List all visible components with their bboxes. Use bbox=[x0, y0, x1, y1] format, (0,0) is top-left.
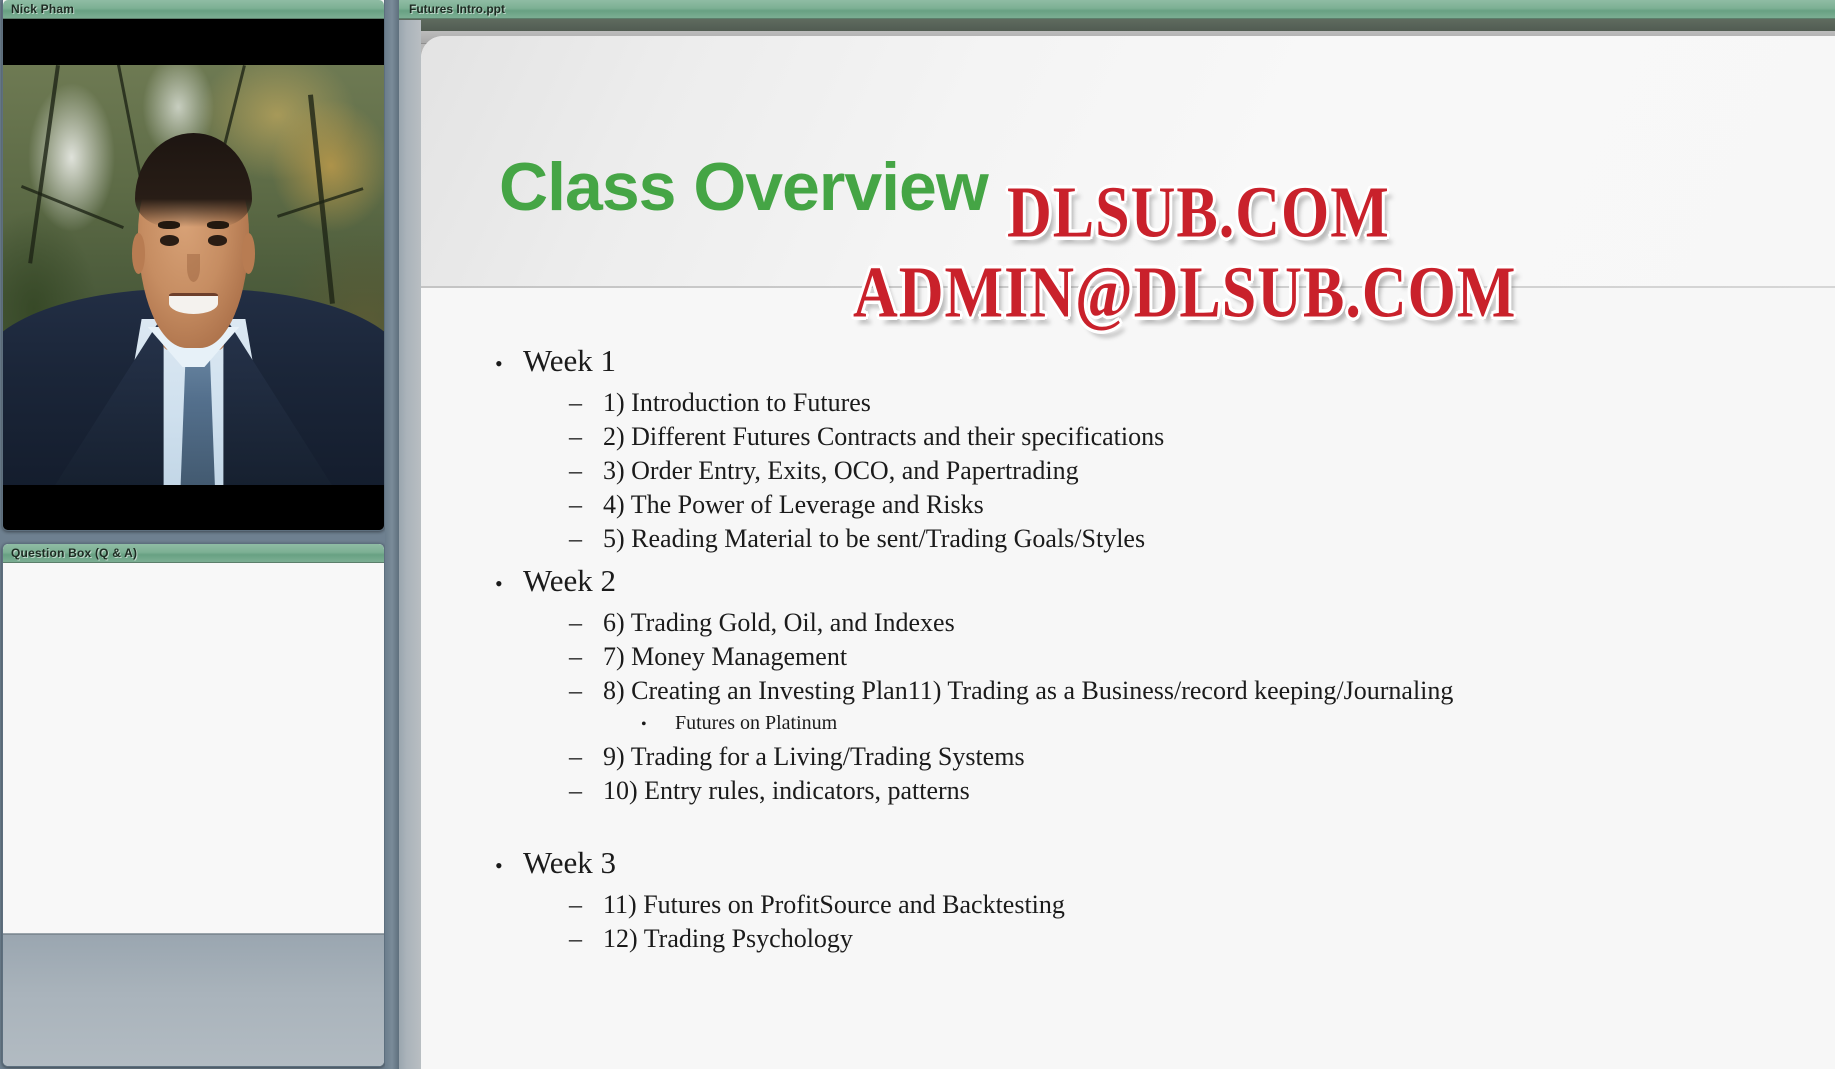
outline-bullet-marker: – bbox=[461, 420, 603, 454]
outline-item-level-2: –2) Different Futures Contracts and thei… bbox=[461, 420, 1795, 454]
presentation-subbar bbox=[399, 19, 1835, 31]
outline-bullet-marker: • bbox=[461, 343, 523, 384]
webcam-video-frame bbox=[3, 65, 384, 485]
outline-item-level-2: –7) Money Management bbox=[461, 640, 1795, 674]
outline-item-text: 6) Trading Gold, Oil, and Indexes bbox=[603, 606, 955, 640]
presenter-ear-right bbox=[242, 233, 255, 274]
slide-title-banner: Class Overview bbox=[421, 36, 1835, 288]
outline-bullet-marker: • bbox=[461, 710, 675, 740]
outline-bullet-marker: • bbox=[461, 845, 523, 886]
outline-item-level-2: –8) Creating an Investing Plan11) Tradin… bbox=[461, 674, 1795, 708]
left-column: Nick Pham bbox=[0, 0, 385, 1069]
outline-item-text: 7) Money Management bbox=[603, 640, 847, 674]
outline-item-level-2: –6) Trading Gold, Oil, and Indexes bbox=[461, 606, 1795, 640]
slide-title: Class Overview bbox=[499, 148, 988, 226]
outline-bullet-marker: – bbox=[461, 488, 603, 522]
outline-item-text: Week 2 bbox=[523, 560, 616, 601]
presentation-title: Futures Intro.ppt bbox=[409, 2, 505, 16]
outline-item-text: 3) Order Entry, Exits, OCO, and Papertra… bbox=[603, 454, 1079, 488]
outline-item-text: 9) Trading for a Living/Trading Systems bbox=[603, 740, 1025, 774]
question-box-input[interactable] bbox=[3, 934, 384, 1066]
outline-item-level-2: –5) Reading Material to be sent/Trading … bbox=[461, 522, 1795, 556]
presenter-eye-right bbox=[208, 235, 227, 245]
webcam-panel-title: Nick Pham bbox=[11, 2, 74, 16]
presentation-pane: Futures Intro.ppt Class Overview DLSUB.C… bbox=[399, 0, 1835, 1069]
presenter-webcam-panel: Nick Pham bbox=[2, 0, 385, 531]
question-box-message-list[interactable] bbox=[3, 563, 384, 934]
tree-branch bbox=[28, 65, 60, 264]
slide-outline-body: •Week 1–1) Introduction to Futures–2) Di… bbox=[421, 294, 1835, 1069]
presenter-nose bbox=[187, 254, 200, 283]
outline-bullet-marker: – bbox=[461, 888, 603, 922]
outline-item-level-2: –11) Futures on ProfitSource and Backtes… bbox=[461, 888, 1795, 922]
presenter-hair bbox=[135, 133, 252, 227]
outline-item-text: Futures on Platinum bbox=[675, 708, 837, 738]
outline-bullet-marker: – bbox=[461, 606, 603, 640]
outline-item-level-2: –4) The Power of Leverage and Risks bbox=[461, 488, 1795, 522]
outline-item-text: Week 3 bbox=[523, 842, 616, 883]
outline-bullet-marker: • bbox=[461, 563, 523, 604]
presenter-eyebrow-right bbox=[207, 221, 229, 229]
outline-bullet-marker: – bbox=[461, 522, 603, 556]
outline-item-level-3: •Futures on Platinum bbox=[461, 708, 1795, 740]
outline-bullet-marker: – bbox=[461, 386, 603, 420]
outline-item-level-1: •Week 2 bbox=[461, 560, 1795, 604]
slide-canvas[interactable]: Class Overview DLSUB.COM ADMIN@DLSUB.COM… bbox=[421, 36, 1835, 1069]
panel-divider[interactable] bbox=[385, 0, 399, 1069]
outline-bullet-marker: – bbox=[461, 454, 603, 488]
outline-item-text: 10) Entry rules, indicators, patterns bbox=[603, 774, 970, 808]
outline-item-text: 4) The Power of Leverage and Risks bbox=[603, 488, 984, 522]
letterbox-bottom-bar bbox=[3, 485, 384, 530]
outline-item-level-1: •Week 1 bbox=[461, 340, 1795, 384]
webcam-video-stage[interactable] bbox=[3, 19, 384, 530]
presenter-ear-left bbox=[132, 233, 145, 274]
presenter-eye-left bbox=[160, 235, 179, 245]
outline-item-text: 12) Trading Psychology bbox=[603, 922, 853, 956]
presenter-mouth bbox=[169, 293, 218, 314]
outline-item-level-2: –1) Introduction to Futures bbox=[461, 386, 1795, 420]
outline-item-level-2: –10) Entry rules, indicators, patterns bbox=[461, 774, 1795, 808]
outline-item-level-2: –12) Trading Psychology bbox=[461, 922, 1795, 956]
presenter-face bbox=[138, 143, 248, 348]
outline-item-text: 5) Reading Material to be sent/Trading G… bbox=[603, 522, 1145, 556]
webcam-scene-background bbox=[3, 65, 384, 485]
outline-item-level-2: –9) Trading for a Living/Trading Systems bbox=[461, 740, 1795, 774]
outline-bullet-marker: – bbox=[461, 640, 603, 674]
outline-item-level-1: •Week 3 bbox=[461, 842, 1795, 886]
presentation-header: Futures Intro.ppt bbox=[399, 0, 1835, 19]
letterbox-top-bar bbox=[3, 19, 384, 65]
webcam-panel-header: Nick Pham bbox=[3, 0, 384, 19]
outline-item-text: 8) Creating an Investing Plan11) Trading… bbox=[603, 674, 1453, 708]
question-box-title: Question Box (Q & A) bbox=[11, 546, 137, 560]
webinar-viewer-app: Nick Pham bbox=[0, 0, 1835, 1069]
outline-bullet-marker: – bbox=[461, 922, 603, 956]
outline-item-text: 11) Futures on ProfitSource and Backtest… bbox=[603, 888, 1065, 922]
outline-item-text: Week 1 bbox=[523, 340, 616, 381]
presenter-eyebrow-left bbox=[158, 221, 180, 229]
outline-bullet-marker: – bbox=[461, 774, 603, 808]
outline-spacer bbox=[461, 808, 1795, 838]
outline-bullet-marker: – bbox=[461, 674, 603, 708]
slide-left-gutter bbox=[399, 20, 421, 1069]
outline-item-text: 2) Different Futures Contracts and their… bbox=[603, 420, 1164, 454]
outline-bullet-marker: – bbox=[461, 740, 603, 774]
outline-item-text: 1) Introduction to Futures bbox=[603, 386, 871, 420]
outline-item-level-2: –3) Order Entry, Exits, OCO, and Papertr… bbox=[461, 454, 1795, 488]
question-box-panel: Question Box (Q & A) bbox=[2, 543, 385, 1067]
question-box-header: Question Box (Q & A) bbox=[3, 544, 384, 563]
